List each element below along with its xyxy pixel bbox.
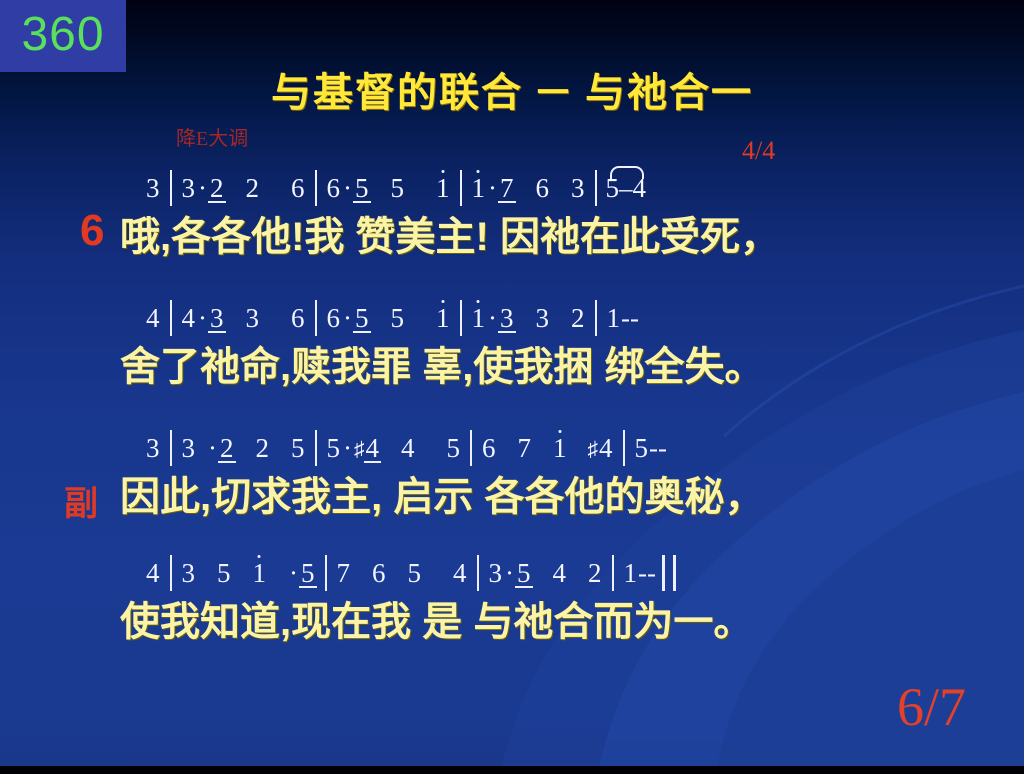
note: 2	[245, 168, 261, 208]
note: 7	[499, 168, 515, 208]
sharp-accidental: ♯	[354, 437, 365, 461]
note: 5	[407, 553, 423, 593]
note: 5	[290, 428, 306, 468]
bar-line	[170, 555, 172, 591]
stanza-block: 44·3366·5511·3321-- 舍了祂命,赎我罪 辜,使我捆 绑全失。	[0, 298, 1024, 396]
note: 2	[209, 168, 225, 208]
note: 4	[365, 428, 381, 468]
note: 5	[326, 428, 342, 468]
slide-canvas: 360 与基督的联合－与祂合一 降E大调 4/4 33·2266·5511·76…	[0, 0, 1024, 774]
note: 2	[587, 553, 603, 593]
bar-line	[595, 170, 597, 206]
note: 4	[145, 553, 161, 593]
note: 5	[354, 298, 370, 338]
note: 5	[300, 553, 316, 593]
bar-line	[623, 430, 625, 466]
note: 6	[481, 428, 497, 468]
tie-arc	[610, 166, 645, 179]
note: 4	[598, 428, 614, 468]
page-indicator: 6/7	[897, 676, 966, 738]
note: 3	[488, 553, 504, 593]
dotted-note-dot: ·	[341, 428, 354, 468]
note: 5	[390, 168, 406, 208]
note: 3	[181, 428, 197, 468]
note: 1	[623, 553, 639, 593]
lyric-row: 副 因此,切求我主, 启示 各各他的奥秘，	[0, 468, 1024, 526]
note: 4	[181, 298, 197, 338]
stanza-block: 33·2255·♯445671♯45-- 副 因此,切求我主, 启示 各各他的奥…	[0, 428, 1024, 526]
note: 6	[326, 168, 342, 208]
lyric-row: 舍了祂命,赎我罪 辜,使我捆 绑全失。	[0, 338, 1024, 396]
note: 3	[245, 298, 261, 338]
note: 1	[435, 298, 451, 338]
title-main-text: 与基督的联合	[271, 71, 523, 115]
note: 6	[290, 168, 306, 208]
bar-line	[612, 555, 614, 591]
page-title: 与基督的联合－与祂合一	[0, 60, 1024, 118]
note: 3	[145, 428, 161, 468]
note: 3	[181, 553, 197, 593]
note: 7	[517, 428, 533, 468]
note: 2	[255, 428, 271, 468]
note: 1	[552, 428, 568, 468]
stanza-block: 4351·576543·5421-- 使我知道,现在我 是 与祂合而为一。	[0, 553, 1024, 651]
bar-line	[170, 170, 172, 206]
chorus-marker: 副	[64, 476, 98, 525]
bar-line	[315, 300, 317, 336]
note: 6	[290, 298, 306, 338]
key-signature-label: 降E大调	[176, 122, 248, 151]
stanza-block: 33·2266·5511·7635–4 6 哦,各各他!我 赞美主! 因祂在此受…	[0, 168, 1024, 266]
note: 6	[535, 168, 551, 208]
bar-line	[595, 300, 597, 336]
notation-line: 4351·576543·5421--	[0, 553, 1024, 593]
notation-line: 44·3366·5511·3321--	[0, 298, 1024, 338]
note: 3	[209, 298, 225, 338]
note: 4	[400, 428, 416, 468]
bar-line	[315, 170, 317, 206]
note: 4	[452, 553, 468, 593]
note: 4	[552, 553, 568, 593]
title-dash: －	[523, 71, 585, 115]
note: 5	[634, 428, 650, 468]
double-bar-line	[662, 555, 676, 591]
note: 3	[145, 168, 161, 208]
note: 5	[390, 298, 406, 338]
note: 1	[471, 298, 487, 338]
note: 5	[216, 553, 232, 593]
note: 2	[219, 428, 235, 468]
title-sub-text: 与祂合一	[585, 71, 753, 115]
lyric-text: 因此,切求我主, 启示 各各他的奥秘，	[120, 475, 764, 519]
lyric-text: 舍了祂命,赎我罪 辜,使我捆 绑全失。	[120, 345, 764, 389]
note: 6	[326, 298, 342, 338]
accidental-note-group: ♯4	[354, 433, 380, 463]
tied-notes: 5–4	[606, 168, 647, 208]
lyric-text: 哦,各各他!我 赞美主! 因祂在此受死，	[120, 215, 780, 259]
note: 3	[570, 168, 586, 208]
time-signature-label: 4/4	[742, 136, 775, 166]
bar-line	[477, 555, 479, 591]
note: 1	[606, 298, 622, 338]
verse-marker: 6	[80, 206, 104, 256]
notation-line: 33·2255·♯445671♯45--	[0, 428, 1024, 468]
note: 4	[145, 298, 161, 338]
bar-line	[170, 430, 172, 466]
sustain-dashes: --	[649, 433, 667, 463]
lyric-row: 6 哦,各各他!我 赞美主! 因祂在此受死，	[0, 208, 1024, 266]
note: 3	[499, 298, 515, 338]
lyric-row: 使我知道,现在我 是 与祂合而为一。	[0, 593, 1024, 651]
sustain-dashes: --	[621, 303, 639, 333]
note: 5	[446, 428, 462, 468]
bar-line	[460, 170, 462, 206]
note: 2	[570, 298, 586, 338]
bar-line	[315, 430, 317, 466]
lyric-text: 使我知道,现在我 是 与祂合而为一。	[120, 600, 753, 644]
note: 5	[516, 553, 532, 593]
sustain-dashes: --	[638, 558, 656, 588]
hymn-number-text: 360	[0, 11, 126, 59]
bar-line	[470, 430, 472, 466]
note: 1	[471, 168, 487, 208]
note: 6	[371, 553, 387, 593]
note: 5	[354, 168, 370, 208]
note: 1	[252, 553, 268, 593]
note: 7	[336, 553, 352, 593]
note: 1	[435, 168, 451, 208]
bar-line	[170, 300, 172, 336]
sharp-accidental: ♯	[588, 437, 599, 461]
notation-line: 33·2266·5511·7635–4	[0, 168, 1024, 208]
bar-line	[325, 555, 327, 591]
accidental-note-group: ♯4	[588, 433, 614, 463]
note: 3	[181, 168, 197, 208]
bar-line	[460, 300, 462, 336]
note: 3	[535, 298, 551, 338]
